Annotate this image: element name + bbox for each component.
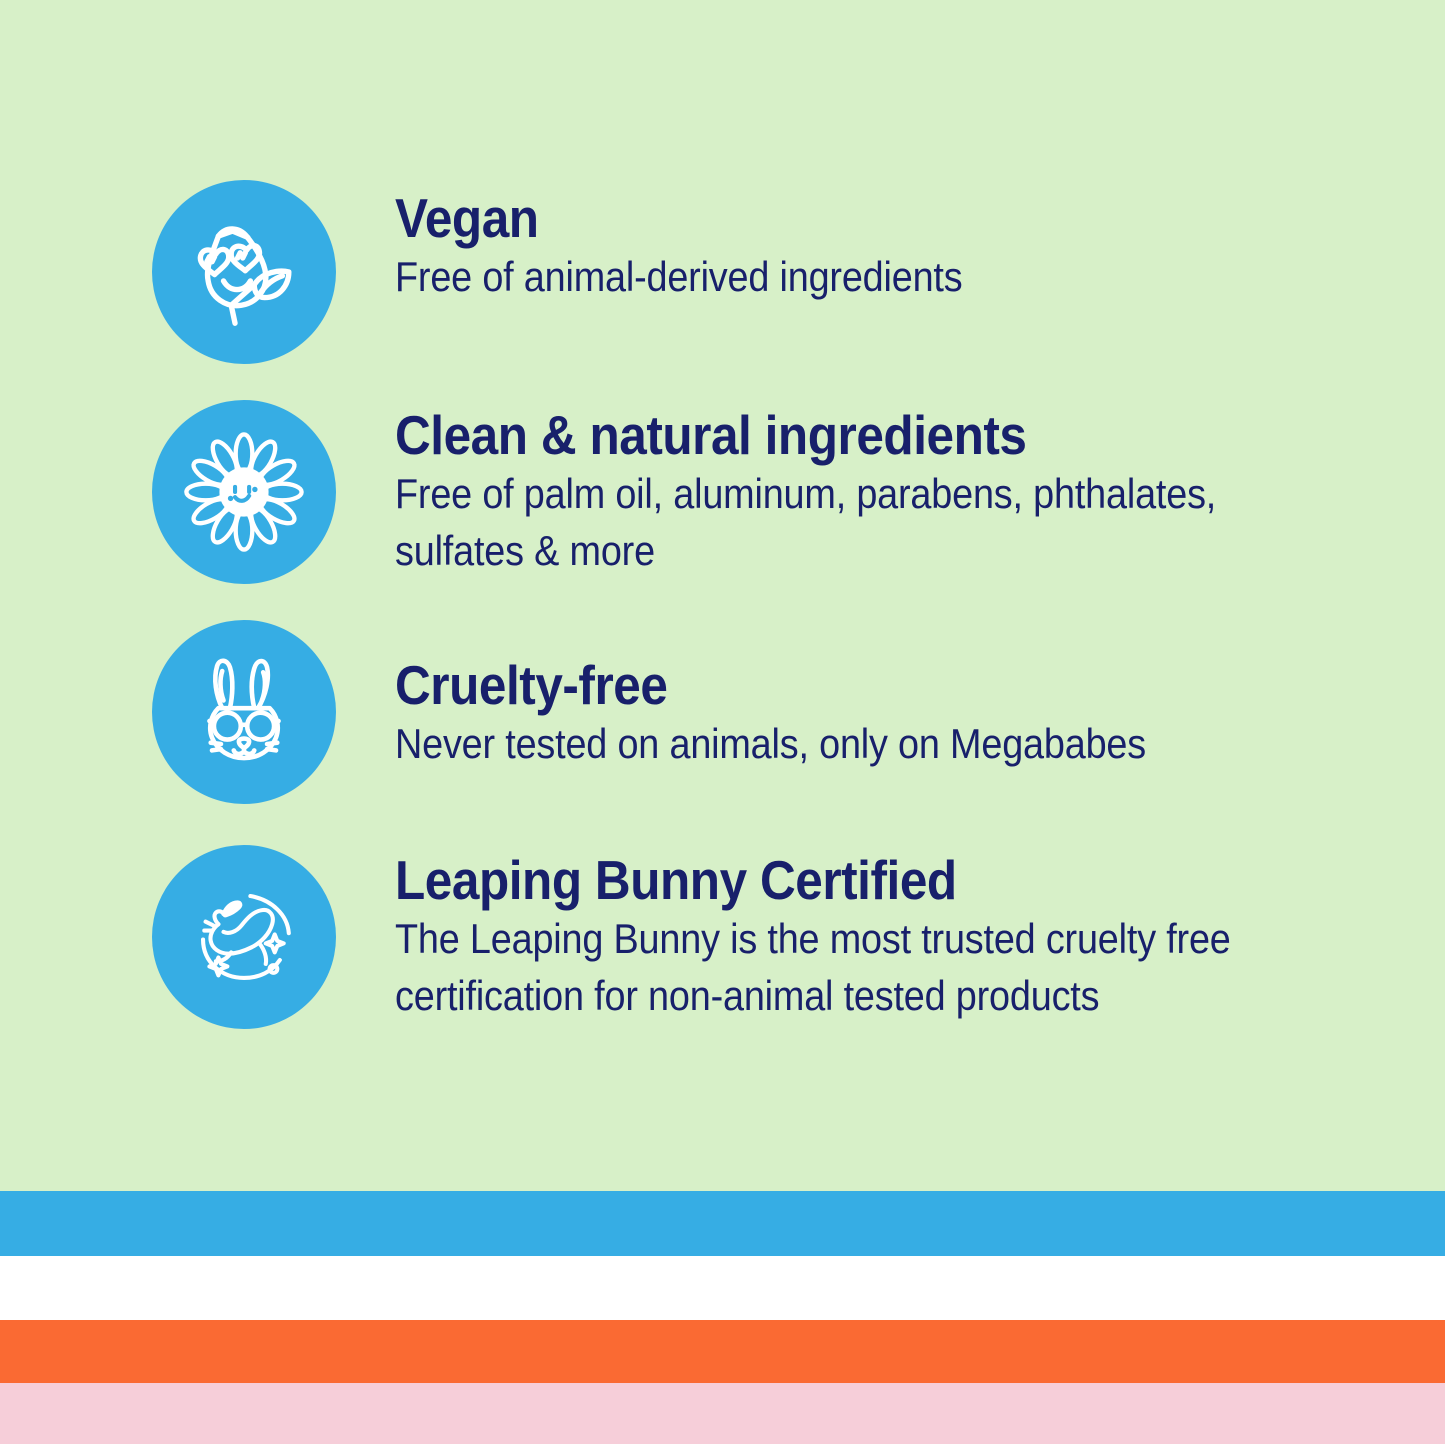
feature-title: Leaping Bunny Certified xyxy=(395,850,1295,910)
vegan-sprout-face-icon xyxy=(152,180,336,364)
cruelty-free-text-block: Cruelty-free Never tested on animals, on… xyxy=(395,655,1395,772)
stripe-pink xyxy=(0,1383,1445,1444)
product-benefits-infographic: Vegan Free of animal-derived ingredients xyxy=(0,0,1445,1444)
feature-title: Vegan xyxy=(395,188,1295,248)
feature-title: Clean & natural ingredients xyxy=(395,405,1295,465)
clean-natural-text-block: Clean & natural ingredients Free of palm… xyxy=(395,405,1395,579)
leaping-bunny-logo-icon xyxy=(152,845,336,1029)
daisy-flower-face-icon xyxy=(152,400,336,584)
leaping-bunny-text-block: Leaping Bunny Certified The Leaping Bunn… xyxy=(395,850,1395,1024)
feature-description: Free of palm oil, aluminum, parabens, ph… xyxy=(395,465,1295,579)
feature-description: Free of animal-derived ingredients xyxy=(395,248,1295,305)
stripe-white xyxy=(0,1256,1445,1320)
feature-title: Cruelty-free xyxy=(395,655,1295,715)
feature-description: The Leaping Bunny is the most trusted cr… xyxy=(395,910,1295,1024)
stripe-orange xyxy=(0,1320,1445,1383)
stripe-blue xyxy=(0,1191,1445,1256)
vegan-text-block: Vegan Free of animal-derived ingredients xyxy=(395,188,1395,305)
feature-description: Never tested on animals, only on Megabab… xyxy=(395,715,1295,772)
bunny-face-sunglasses-icon xyxy=(152,620,336,804)
